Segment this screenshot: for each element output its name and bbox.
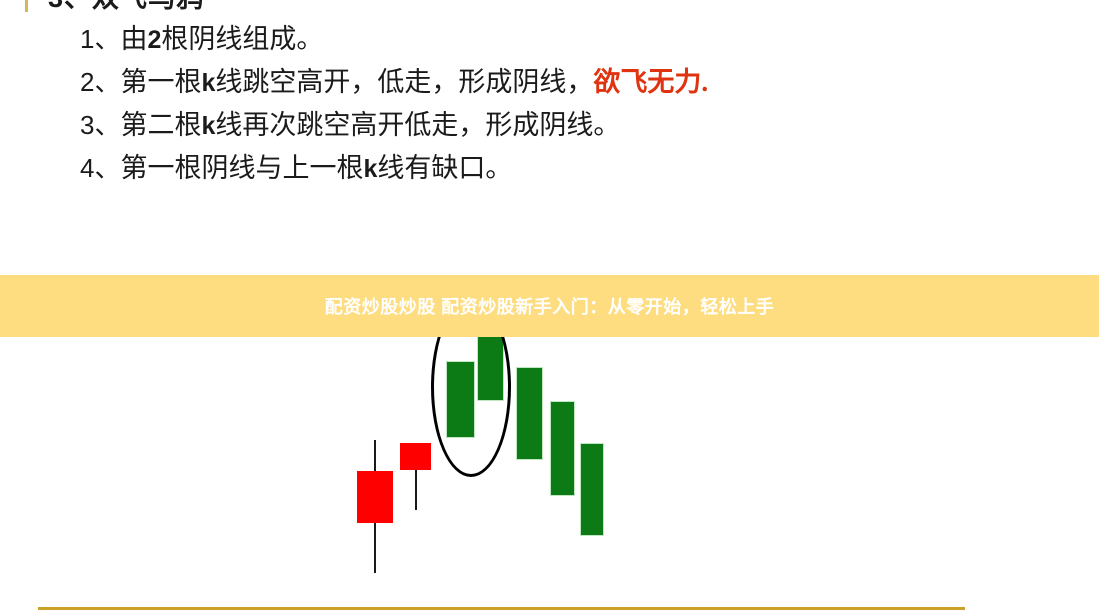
candlestick-body <box>400 443 431 470</box>
candlestick-body <box>517 368 542 459</box>
bottom-divider <box>38 607 965 610</box>
promo-banner-text: 配资炒股炒股 配资炒股新手入门：从零开始，轻松上手 <box>325 293 775 319</box>
promo-banner[interactable]: 配资炒股炒股 配资炒股新手入门：从零开始，轻松上手 <box>0 275 1099 337</box>
candlestick-body <box>357 471 393 523</box>
candlestick-body <box>551 402 574 495</box>
candlestick-body <box>581 444 603 535</box>
